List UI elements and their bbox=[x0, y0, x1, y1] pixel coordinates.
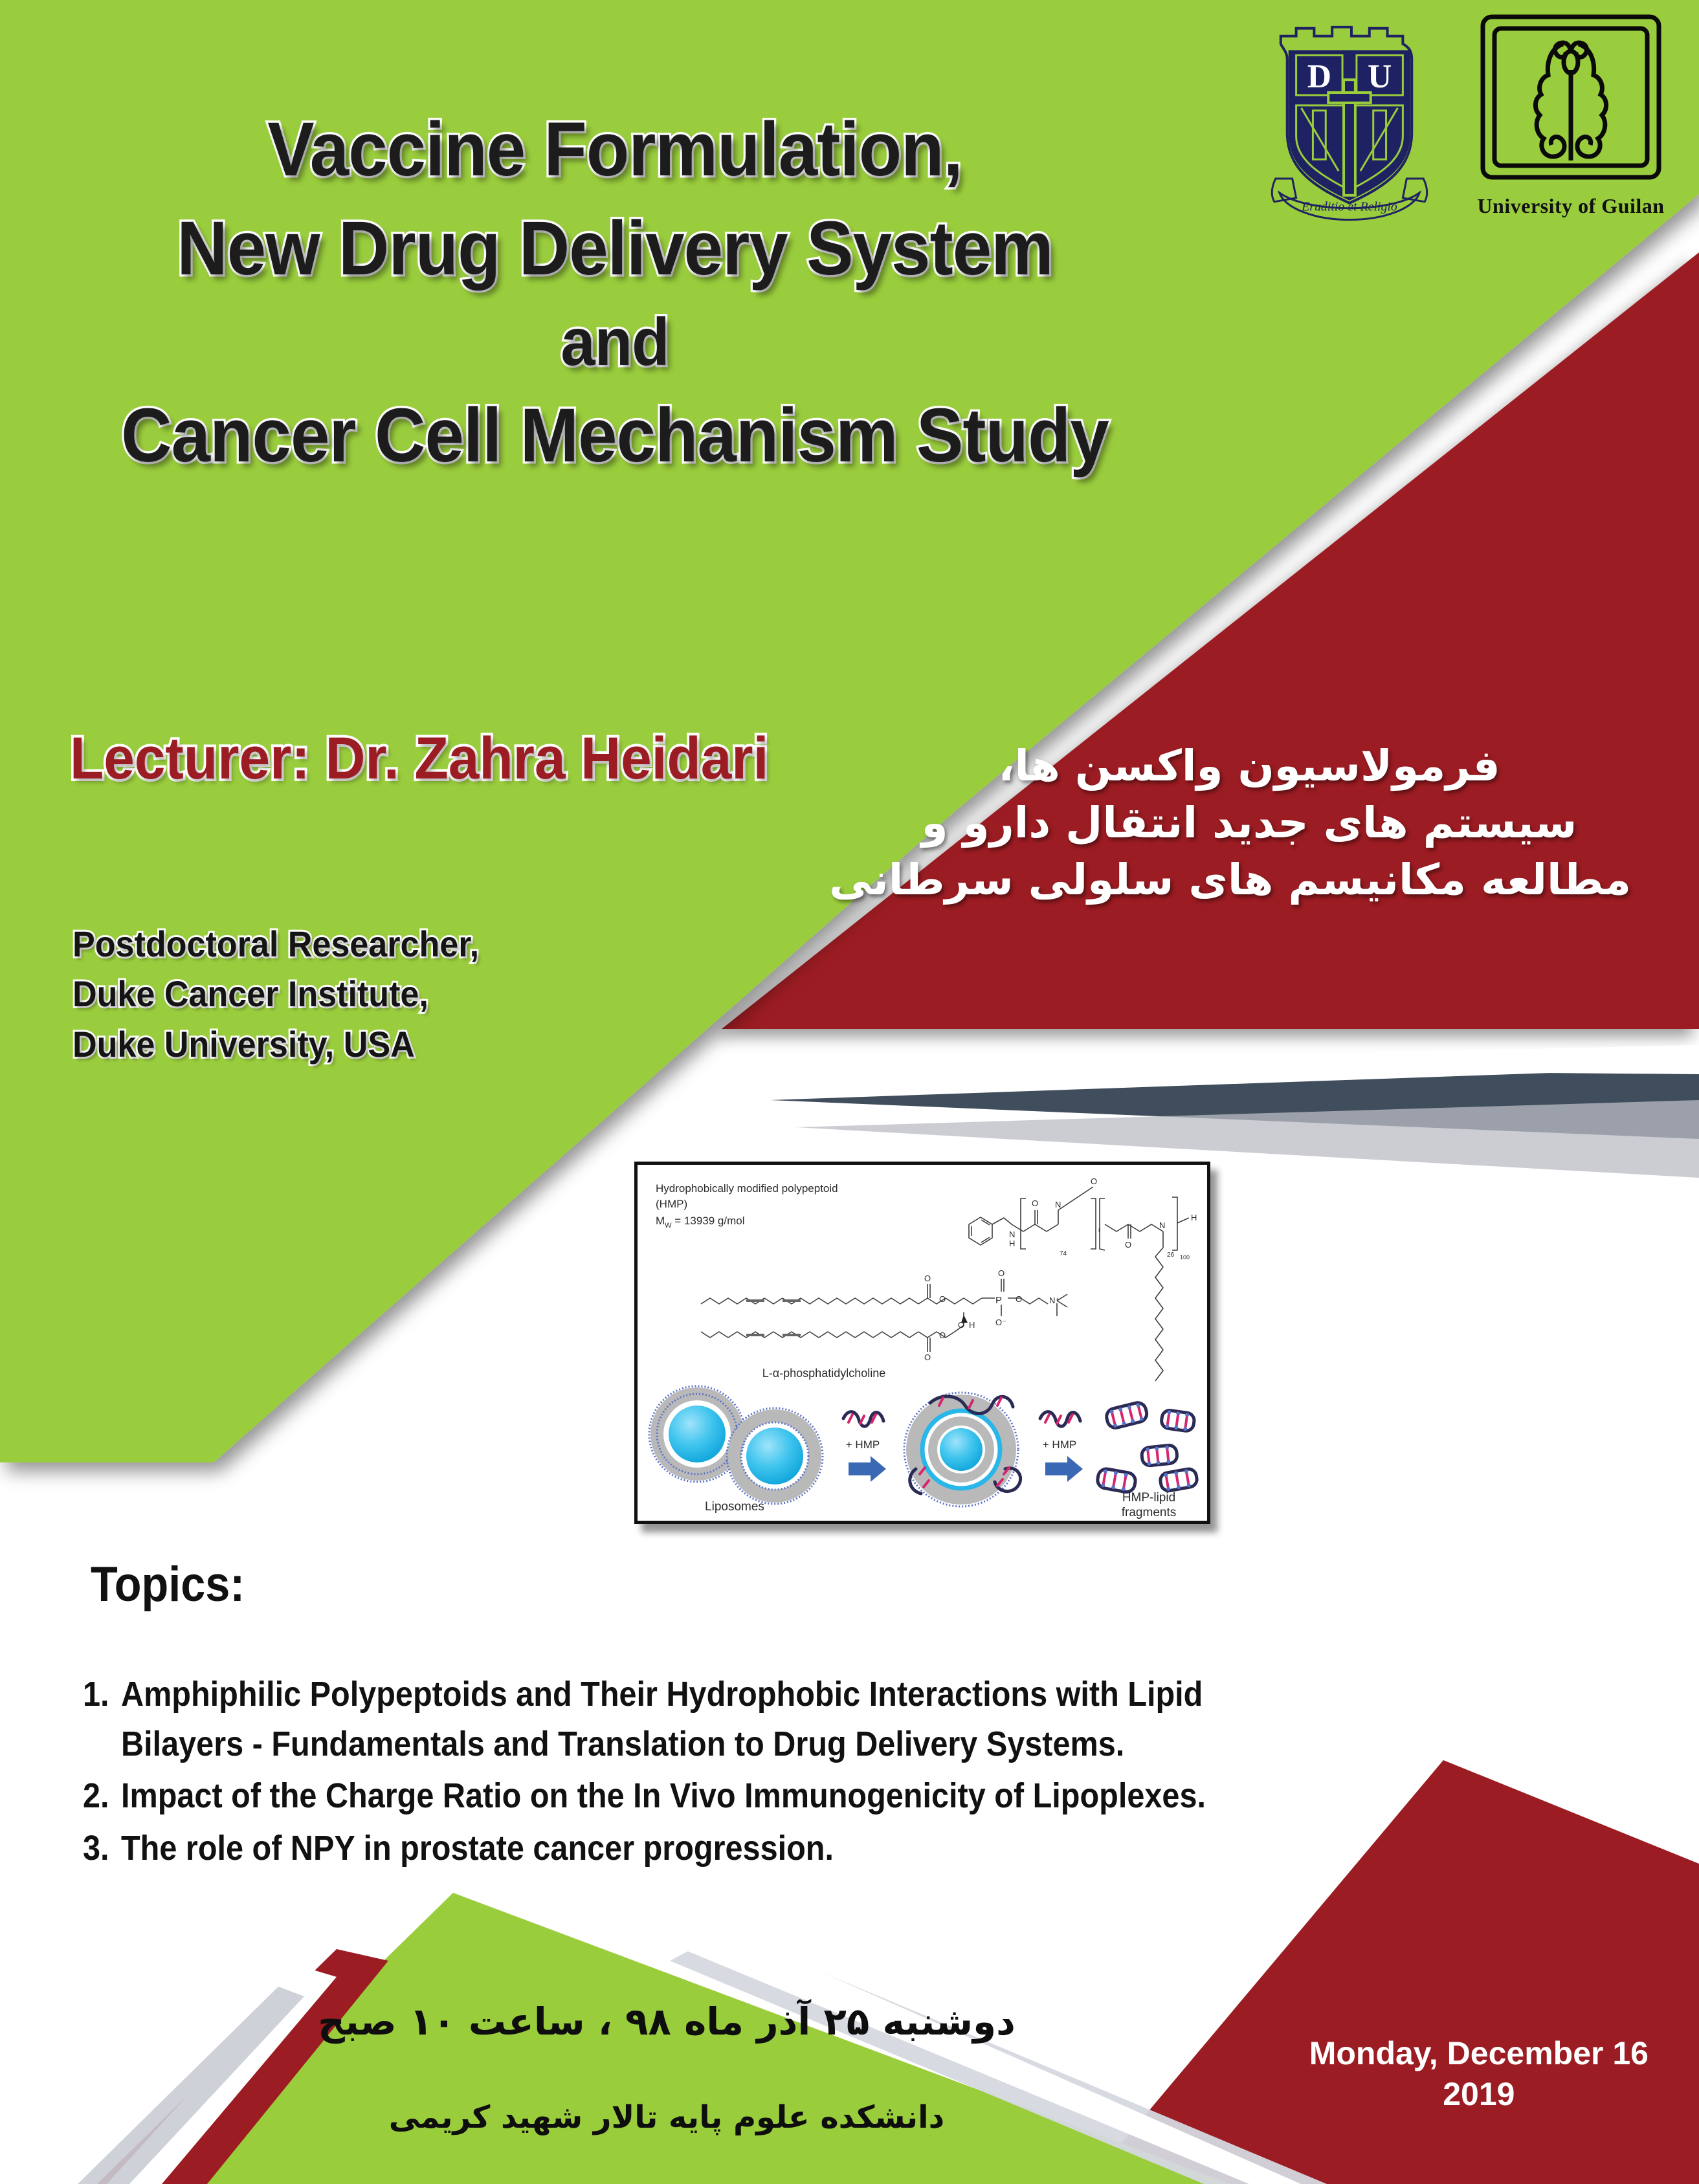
title-line-3: and bbox=[49, 299, 1181, 386]
logo-group: D U Eruditio et Religio bbox=[1263, 10, 1668, 230]
figure-atom-h-term: H bbox=[1191, 1213, 1197, 1222]
svg-text:O: O bbox=[958, 1320, 964, 1330]
duke-letter-u: U bbox=[1368, 58, 1392, 95]
figure-label-liposomes: Liposomes bbox=[705, 1500, 764, 1514]
svg-text:O: O bbox=[939, 1330, 946, 1340]
figure-sub-26: 26 bbox=[1167, 1252, 1175, 1259]
topic-text-1: Amphiphilic Polypeptoids and Their Hydro… bbox=[121, 1670, 1322, 1769]
event-date-english: Monday, December 16 2019 bbox=[1309, 2033, 1649, 2114]
figure-caption-title: Hydrophobically modified polypeptoid bbox=[656, 1182, 838, 1195]
figure-caption-abbrev: (HMP) bbox=[656, 1198, 687, 1210]
figure-atom-p: P bbox=[995, 1295, 1002, 1306]
topic-item-1: 1. Amphiphilic Polypeptoids and Their Hy… bbox=[83, 1670, 1455, 1769]
guilan-logo-icon: University of Guilan bbox=[1474, 10, 1668, 230]
figure-atom-nh-n: N bbox=[1009, 1230, 1015, 1239]
figure-label-fragments-2: fragments bbox=[1122, 1506, 1176, 1519]
svg-text:O: O bbox=[939, 1294, 946, 1304]
topic-item-3: 3. The role of NPY in prostate cancer pr… bbox=[83, 1824, 1455, 1873]
liposome-disrupted bbox=[904, 1393, 1021, 1506]
title-line-4: Cancer Cell Mechanism Study bbox=[49, 386, 1181, 485]
figure-atom-nplus: N⁺ bbox=[1049, 1296, 1060, 1305]
page-title: Vaccine Formulation, New Drug Delivery S… bbox=[0, 100, 1230, 485]
duke-motto: Eruditio et Religio bbox=[1301, 200, 1397, 214]
figure-sub-74: 74 bbox=[1060, 1250, 1067, 1257]
topic-number-2: 2. bbox=[83, 1771, 109, 1821]
figure-atom-n1: N bbox=[1055, 1200, 1061, 1209]
poster-root: D U Eruditio et Religio bbox=[0, 0, 1699, 2184]
topic-text-3: The role of NPY in prostate cancer progr… bbox=[121, 1824, 1322, 1873]
event-year-line: 2019 bbox=[1309, 2074, 1649, 2115]
figure-atom-ominus: O⁻ bbox=[995, 1318, 1006, 1327]
figure-atom-o3: O bbox=[1125, 1240, 1131, 1250]
duke-letter-d: D bbox=[1307, 58, 1331, 95]
scientific-figure: Hydrophobically modified polypeptoid (HM… bbox=[634, 1162, 1210, 1524]
guilan-logo-caption: University of Guilan bbox=[1477, 194, 1664, 218]
figure-sub-100: 100 bbox=[1180, 1254, 1190, 1261]
figure-step-2: + HMP bbox=[1043, 1439, 1076, 1451]
figure-label-fragments-1: HMP-lipid bbox=[1122, 1491, 1175, 1505]
svg-text:O: O bbox=[924, 1274, 931, 1283]
affiliation-line-2: Duke Cancer Institute, bbox=[72, 969, 479, 1019]
affiliation-line-3: Duke University, USA bbox=[72, 1019, 479, 1069]
figure-step-1: + HMP bbox=[846, 1439, 880, 1451]
persian-headline-line-3: مطالعه مکانیسم های سلولی سرطانی bbox=[867, 852, 1631, 909]
topic-number-1: 1. bbox=[83, 1670, 109, 1719]
svg-text:O: O bbox=[1016, 1294, 1022, 1304]
lecturer-name: Lecturer: Dr. Zahra Heidari bbox=[70, 725, 768, 793]
event-datetime-persian: دوشنبه ۲۵ آذر ماه ۹۸ ، ساعت ۱۰ صبح bbox=[246, 2000, 1087, 2044]
svg-text:O: O bbox=[924, 1352, 931, 1362]
duke-shield-icon: D U Eruditio et Religio bbox=[1263, 10, 1436, 224]
figure-atom-o1: O bbox=[1032, 1198, 1038, 1208]
figure-atom-nh-h: H bbox=[1009, 1239, 1015, 1248]
figure-mw-value: = 13939 g/mol bbox=[672, 1215, 745, 1227]
event-details-persian: دوشنبه ۲۵ آذر ماه ۹۸ ، ساعت ۱۰ صبح دانشک… bbox=[246, 2000, 1087, 2135]
topic-number-3: 3. bbox=[83, 1824, 109, 1873]
title-line-1: Vaccine Formulation, bbox=[49, 100, 1181, 199]
figure-lipid-label: L-α-phosphatidylcholine bbox=[762, 1367, 886, 1380]
event-date-line: Monday, December 16 bbox=[1309, 2033, 1649, 2074]
topic-item-2: 2. Impact of the Charge Ratio on the In … bbox=[83, 1771, 1455, 1821]
topic-text-2: Impact of the Charge Ratio on the In Viv… bbox=[121, 1771, 1322, 1821]
figure-atom-o2: O bbox=[1091, 1176, 1097, 1186]
figure-atom-oh: H bbox=[969, 1320, 975, 1330]
title-line-2: New Drug Delivery System bbox=[49, 199, 1181, 298]
figure-mw-prefix: M bbox=[656, 1215, 665, 1227]
svg-text:O: O bbox=[998, 1268, 1005, 1278]
topics-list: 1. Amphiphilic Polypeptoids and Their Hy… bbox=[83, 1670, 1455, 1876]
lecturer-affiliation: Postdoctoral Researcher, Duke Cancer Ins… bbox=[72, 919, 509, 1069]
figure-mw-sub: W bbox=[665, 1222, 672, 1230]
persian-headline: فرمولاسیون واکسن ها، سیستم های جدید انتق… bbox=[867, 738, 1631, 908]
event-venue-persian: دانشکده علوم پایه تالار شهید کریمی bbox=[246, 2099, 1087, 2135]
topics-heading: Topics: bbox=[91, 1556, 245, 1613]
affiliation-line-1: Postdoctoral Researcher, bbox=[72, 919, 479, 969]
persian-headline-line-1: فرمولاسیون واکسن ها، bbox=[867, 738, 1631, 795]
figure-atom-n2: N bbox=[1159, 1220, 1165, 1230]
persian-headline-line-2: سیستم های جدید انتقال دارو و bbox=[867, 795, 1631, 852]
